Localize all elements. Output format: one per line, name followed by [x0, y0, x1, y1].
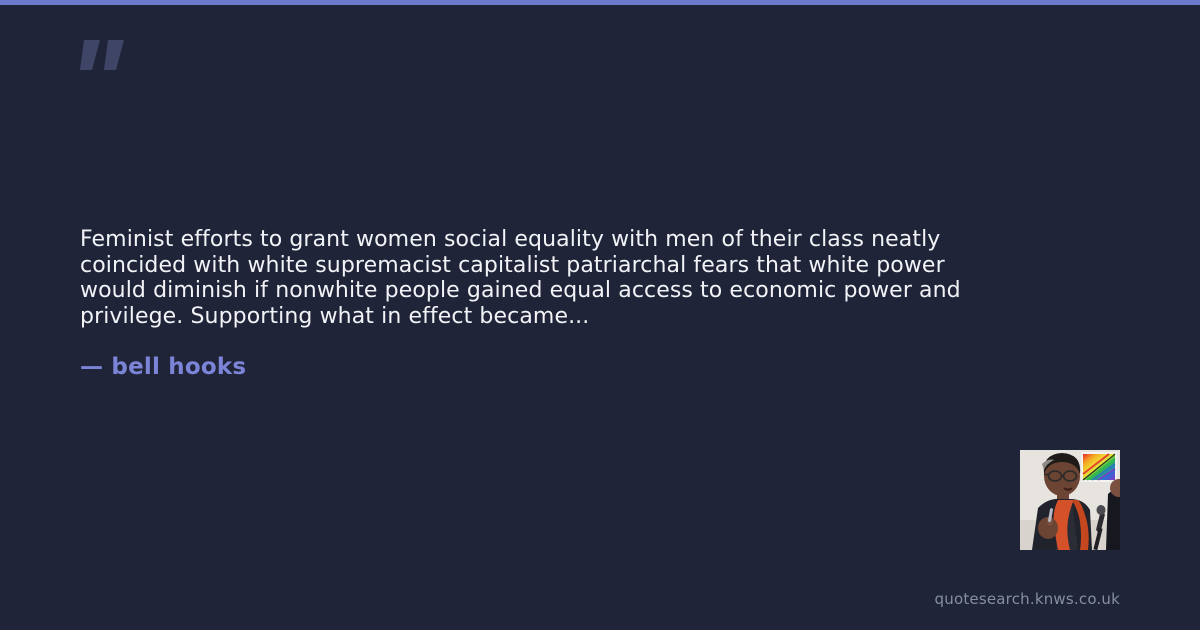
source-url[interactable]: quotesearch.knws.co.uk	[935, 590, 1120, 608]
quote-card: Feminist efforts to grant women social e…	[0, 0, 1200, 630]
author-thumbnail[interactable]	[1020, 450, 1120, 550]
quote-mark-icon	[78, 18, 148, 88]
quote-attribution: — bell hooks	[80, 354, 246, 380]
quote-text: Feminist efforts to grant women social e…	[80, 227, 1000, 329]
top-accent-bar	[0, 0, 1200, 5]
